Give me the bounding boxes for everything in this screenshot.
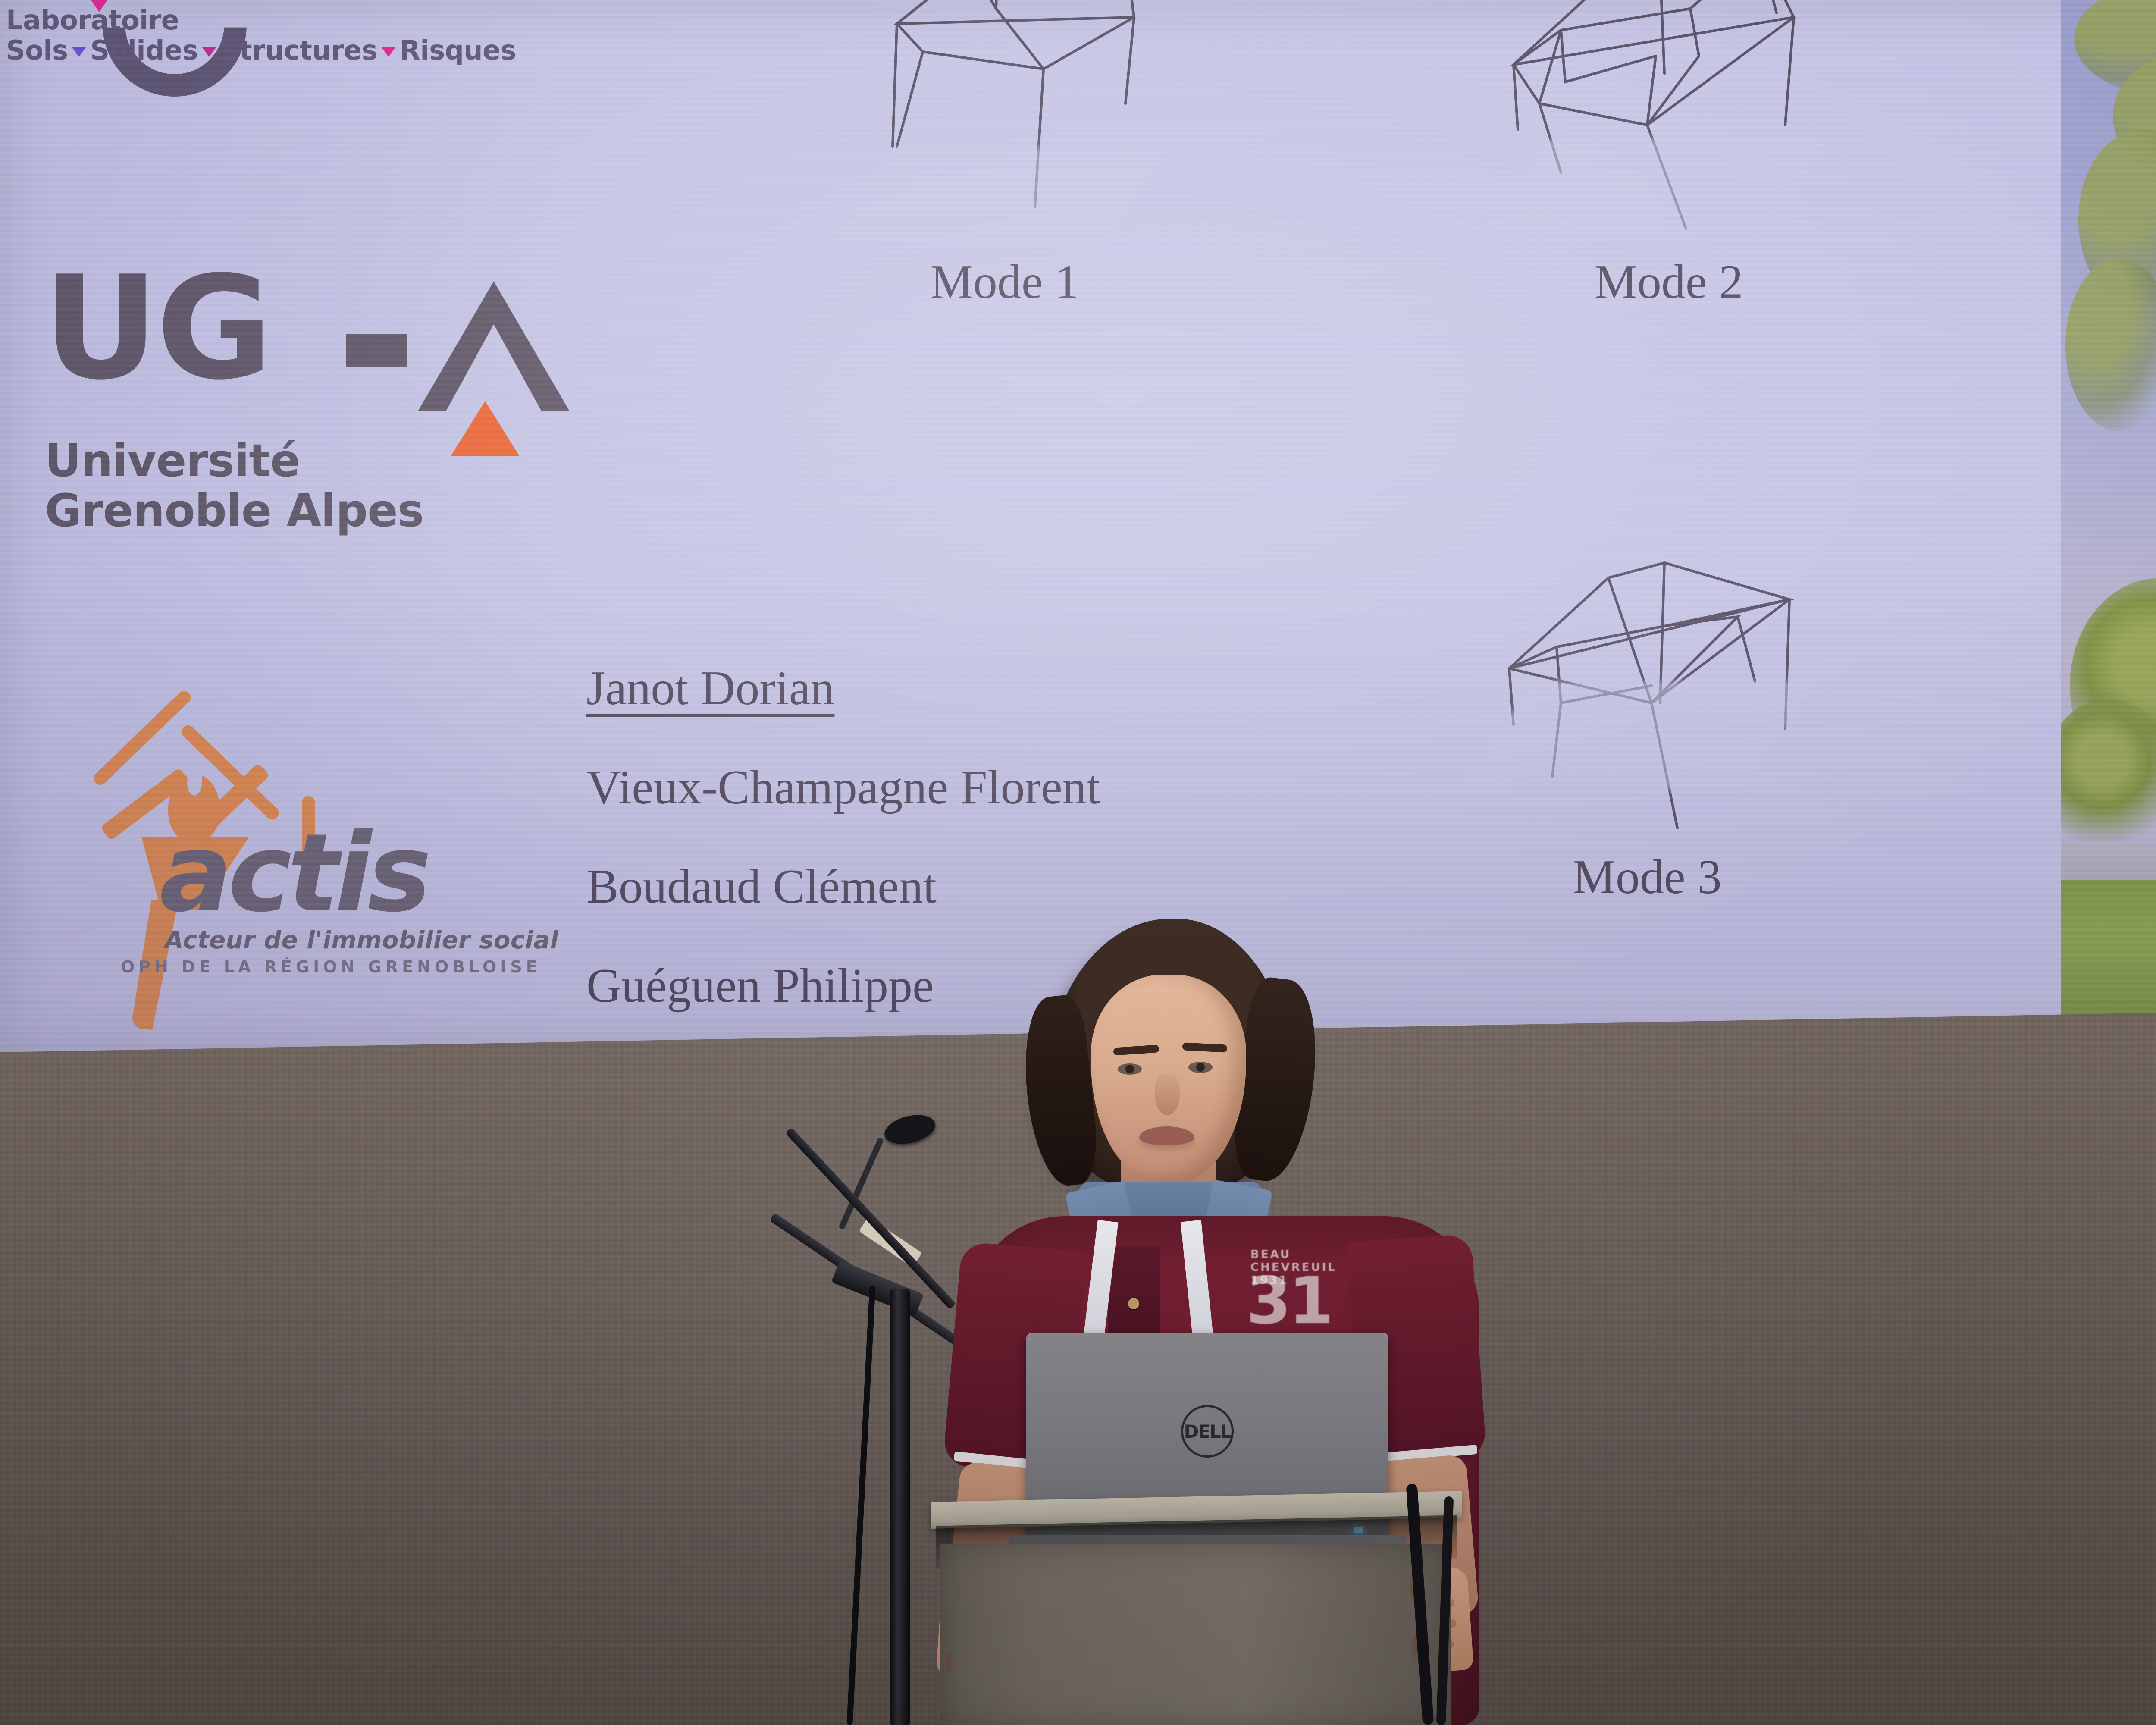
- actis-logo: actis Acteur de l'immobilier social OPH …: [52, 699, 535, 1000]
- author-presenter: Janot Dorian: [586, 664, 1363, 712]
- tree: [2061, 699, 2156, 854]
- microphone-gooseneck: [838, 1137, 884, 1230]
- lab-line2: Sols Solides Structures Risques: [6, 34, 516, 66]
- orange-triangle-icon: [451, 401, 520, 456]
- uga-name: Université Grenoble Alpes: [45, 436, 424, 536]
- actis-wordmark: actis: [160, 819, 427, 927]
- mode-2-label: Mode 2: [1432, 254, 1906, 310]
- lectern: [931, 1496, 1462, 1725]
- eyebrow-right: [1182, 1042, 1228, 1052]
- a-triangle-inner-icon: [446, 324, 541, 411]
- g-crossbar-icon: [346, 334, 407, 367]
- lab-line1: Laboratoire: [6, 4, 179, 36]
- actis-tagline: Acteur de l'immobilier social: [165, 926, 558, 954]
- lab-part-sols: Sols: [6, 34, 68, 66]
- mic-cable: [846, 1285, 875, 1725]
- mode-3-label: Mode 3: [1410, 850, 1884, 905]
- lawn: [2061, 880, 2156, 1035]
- uga-logo: UG Université Grenoble Alpes: [43, 276, 604, 604]
- lab-part-structures: Structures: [220, 34, 377, 66]
- lectern-body: [940, 1544, 1451, 1725]
- uga-name-line1: Université: [45, 436, 424, 486]
- shirt-button: [1128, 1298, 1139, 1309]
- author-3: Boudaud Clément: [586, 862, 1363, 911]
- eyebrow-left: [1113, 1044, 1159, 1055]
- author-2: Vieux-Champagne Florent: [586, 763, 1363, 812]
- separator-triangle-icon: [202, 47, 216, 57]
- projection-screen: Laboratoire Sols Solides Structures Risq…: [0, 0, 2156, 1052]
- nose: [1155, 1074, 1180, 1115]
- eye-left: [1118, 1063, 1142, 1075]
- separator-triangle-icon: [72, 47, 86, 57]
- uga-mark: UG: [43, 276, 604, 418]
- figure-mode-2: Mode 2: [1432, 0, 1906, 461]
- actis-subline: OPH DE LA RÉGION GRENOBLOISE: [121, 957, 541, 976]
- separator-triangle-icon: [382, 47, 395, 57]
- lab-part-solides: Solides: [90, 34, 198, 66]
- mode-1-label: Mode 1: [768, 254, 1242, 310]
- figure-mode-1: Mode 1: [768, 0, 1242, 457]
- eye-right: [1188, 1062, 1213, 1073]
- mouth: [1139, 1126, 1194, 1145]
- uga-name-line2: Grenoble Alpes: [45, 486, 424, 536]
- dell-logo-icon: DELL: [1181, 1405, 1234, 1458]
- uga-letters: UG: [43, 257, 270, 399]
- face: [1091, 975, 1246, 1182]
- building-render-photo: [2061, 0, 2156, 1035]
- presentation-photo: Laboratoire Sols Solides Structures Risq…: [0, 0, 2156, 1725]
- lab-part-risques: Risques: [400, 34, 516, 66]
